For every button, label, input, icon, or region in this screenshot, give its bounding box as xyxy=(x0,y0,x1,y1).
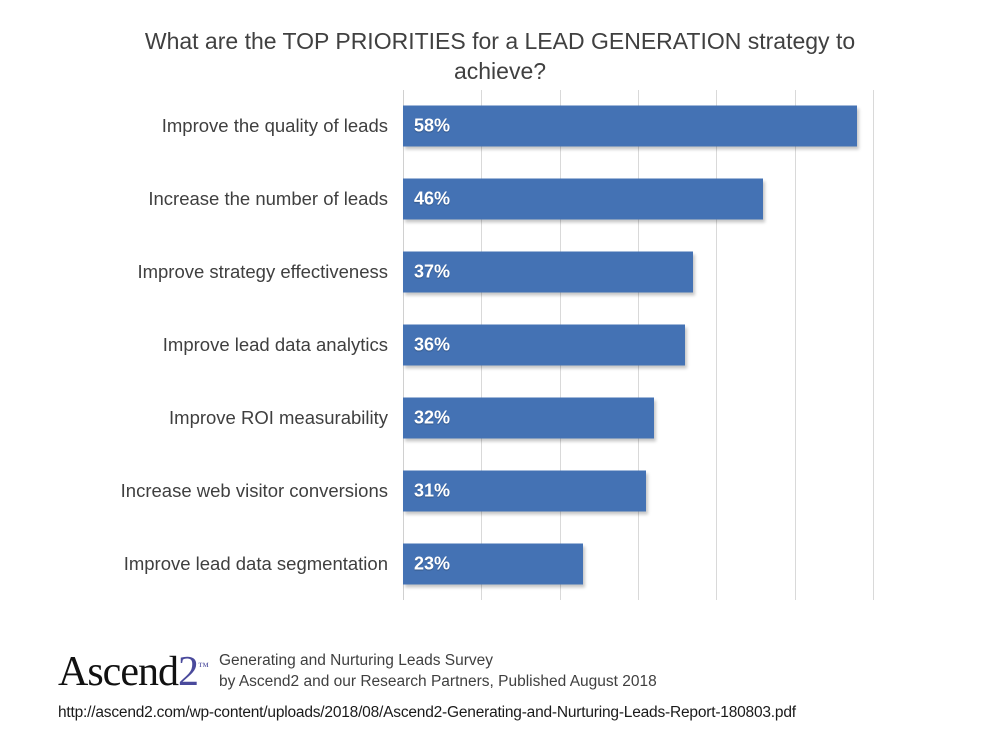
bar-band: 58% xyxy=(403,90,873,163)
bar-band: 36% xyxy=(403,309,873,382)
category-label-row: Improve strategy effectiveness xyxy=(30,236,388,309)
category-label-row: Increase the number of leads xyxy=(30,163,388,236)
bar[interactable]: 37% xyxy=(403,252,693,293)
category-axis: Improve the quality of leadsIncrease the… xyxy=(30,90,388,600)
bar-value-label: 23% xyxy=(414,553,450,574)
bar-value-label: 36% xyxy=(414,334,450,355)
bar-value-label: 58% xyxy=(414,116,450,137)
bar-value-label: 46% xyxy=(414,189,450,210)
category-label: Increase the number of leads xyxy=(148,188,388,210)
logo-wordmark: Ascend xyxy=(58,649,178,695)
chart-title-line-2: achieve? xyxy=(454,58,546,84)
category-label: Increase web visitor conversions xyxy=(121,480,388,502)
footer: Ascend2™ Generating and Nurturing Leads … xyxy=(0,636,1000,750)
source-url-link[interactable]: http://ascend2.com/wp-content/uploads/20… xyxy=(58,704,796,722)
category-label-row: Improve lead data segmentation xyxy=(30,527,388,600)
bar[interactable]: 58% xyxy=(403,106,857,147)
gridline-60 xyxy=(873,90,874,600)
category-label: Improve the quality of leads xyxy=(162,115,388,137)
bar[interactable]: 23% xyxy=(403,543,583,584)
bar-band: 23% xyxy=(403,527,873,600)
bar-band: 32% xyxy=(403,381,873,454)
bar[interactable]: 46% xyxy=(403,179,763,220)
bar-band: 31% xyxy=(403,454,873,527)
footer-caption: Generating and Nurturing Leads Survey by… xyxy=(219,650,657,692)
bar-band: 37% xyxy=(403,236,873,309)
plot-area: 58%46%37%36%32%31%23% xyxy=(403,90,873,600)
category-label: Improve strategy effectiveness xyxy=(137,261,388,283)
logo-digit: 2 xyxy=(178,649,198,695)
bar-band: 46% xyxy=(403,163,873,236)
category-label: Improve lead data analytics xyxy=(163,334,388,356)
category-label-row: Increase web visitor conversions xyxy=(30,454,388,527)
ascend2-logo: Ascend2™ xyxy=(58,644,208,695)
chart-title: What are the TOP PRIORITIES for a LEAD G… xyxy=(110,26,890,86)
caption-line-2: by Ascend2 and our Research Partners, Pu… xyxy=(219,671,657,692)
bar-value-label: 37% xyxy=(414,262,450,283)
category-label-row: Improve lead data analytics xyxy=(30,309,388,382)
category-label-row: Improve ROI measurability xyxy=(30,381,388,454)
bar-value-label: 31% xyxy=(414,480,450,501)
category-label-row: Improve the quality of leads xyxy=(30,90,388,163)
caption-line-1: Generating and Nurturing Leads Survey xyxy=(219,650,657,671)
category-label: Improve lead data segmentation xyxy=(124,553,388,575)
bar[interactable]: 36% xyxy=(403,324,685,365)
bar[interactable]: 31% xyxy=(403,470,646,511)
logo-trademark-icon: ™ xyxy=(198,661,208,673)
chart-title-line-1: What are the TOP PRIORITIES for a LEAD G… xyxy=(145,28,855,54)
bar-value-label: 32% xyxy=(414,407,450,428)
category-label: Improve ROI measurability xyxy=(169,407,388,429)
bar[interactable]: 32% xyxy=(403,397,654,438)
